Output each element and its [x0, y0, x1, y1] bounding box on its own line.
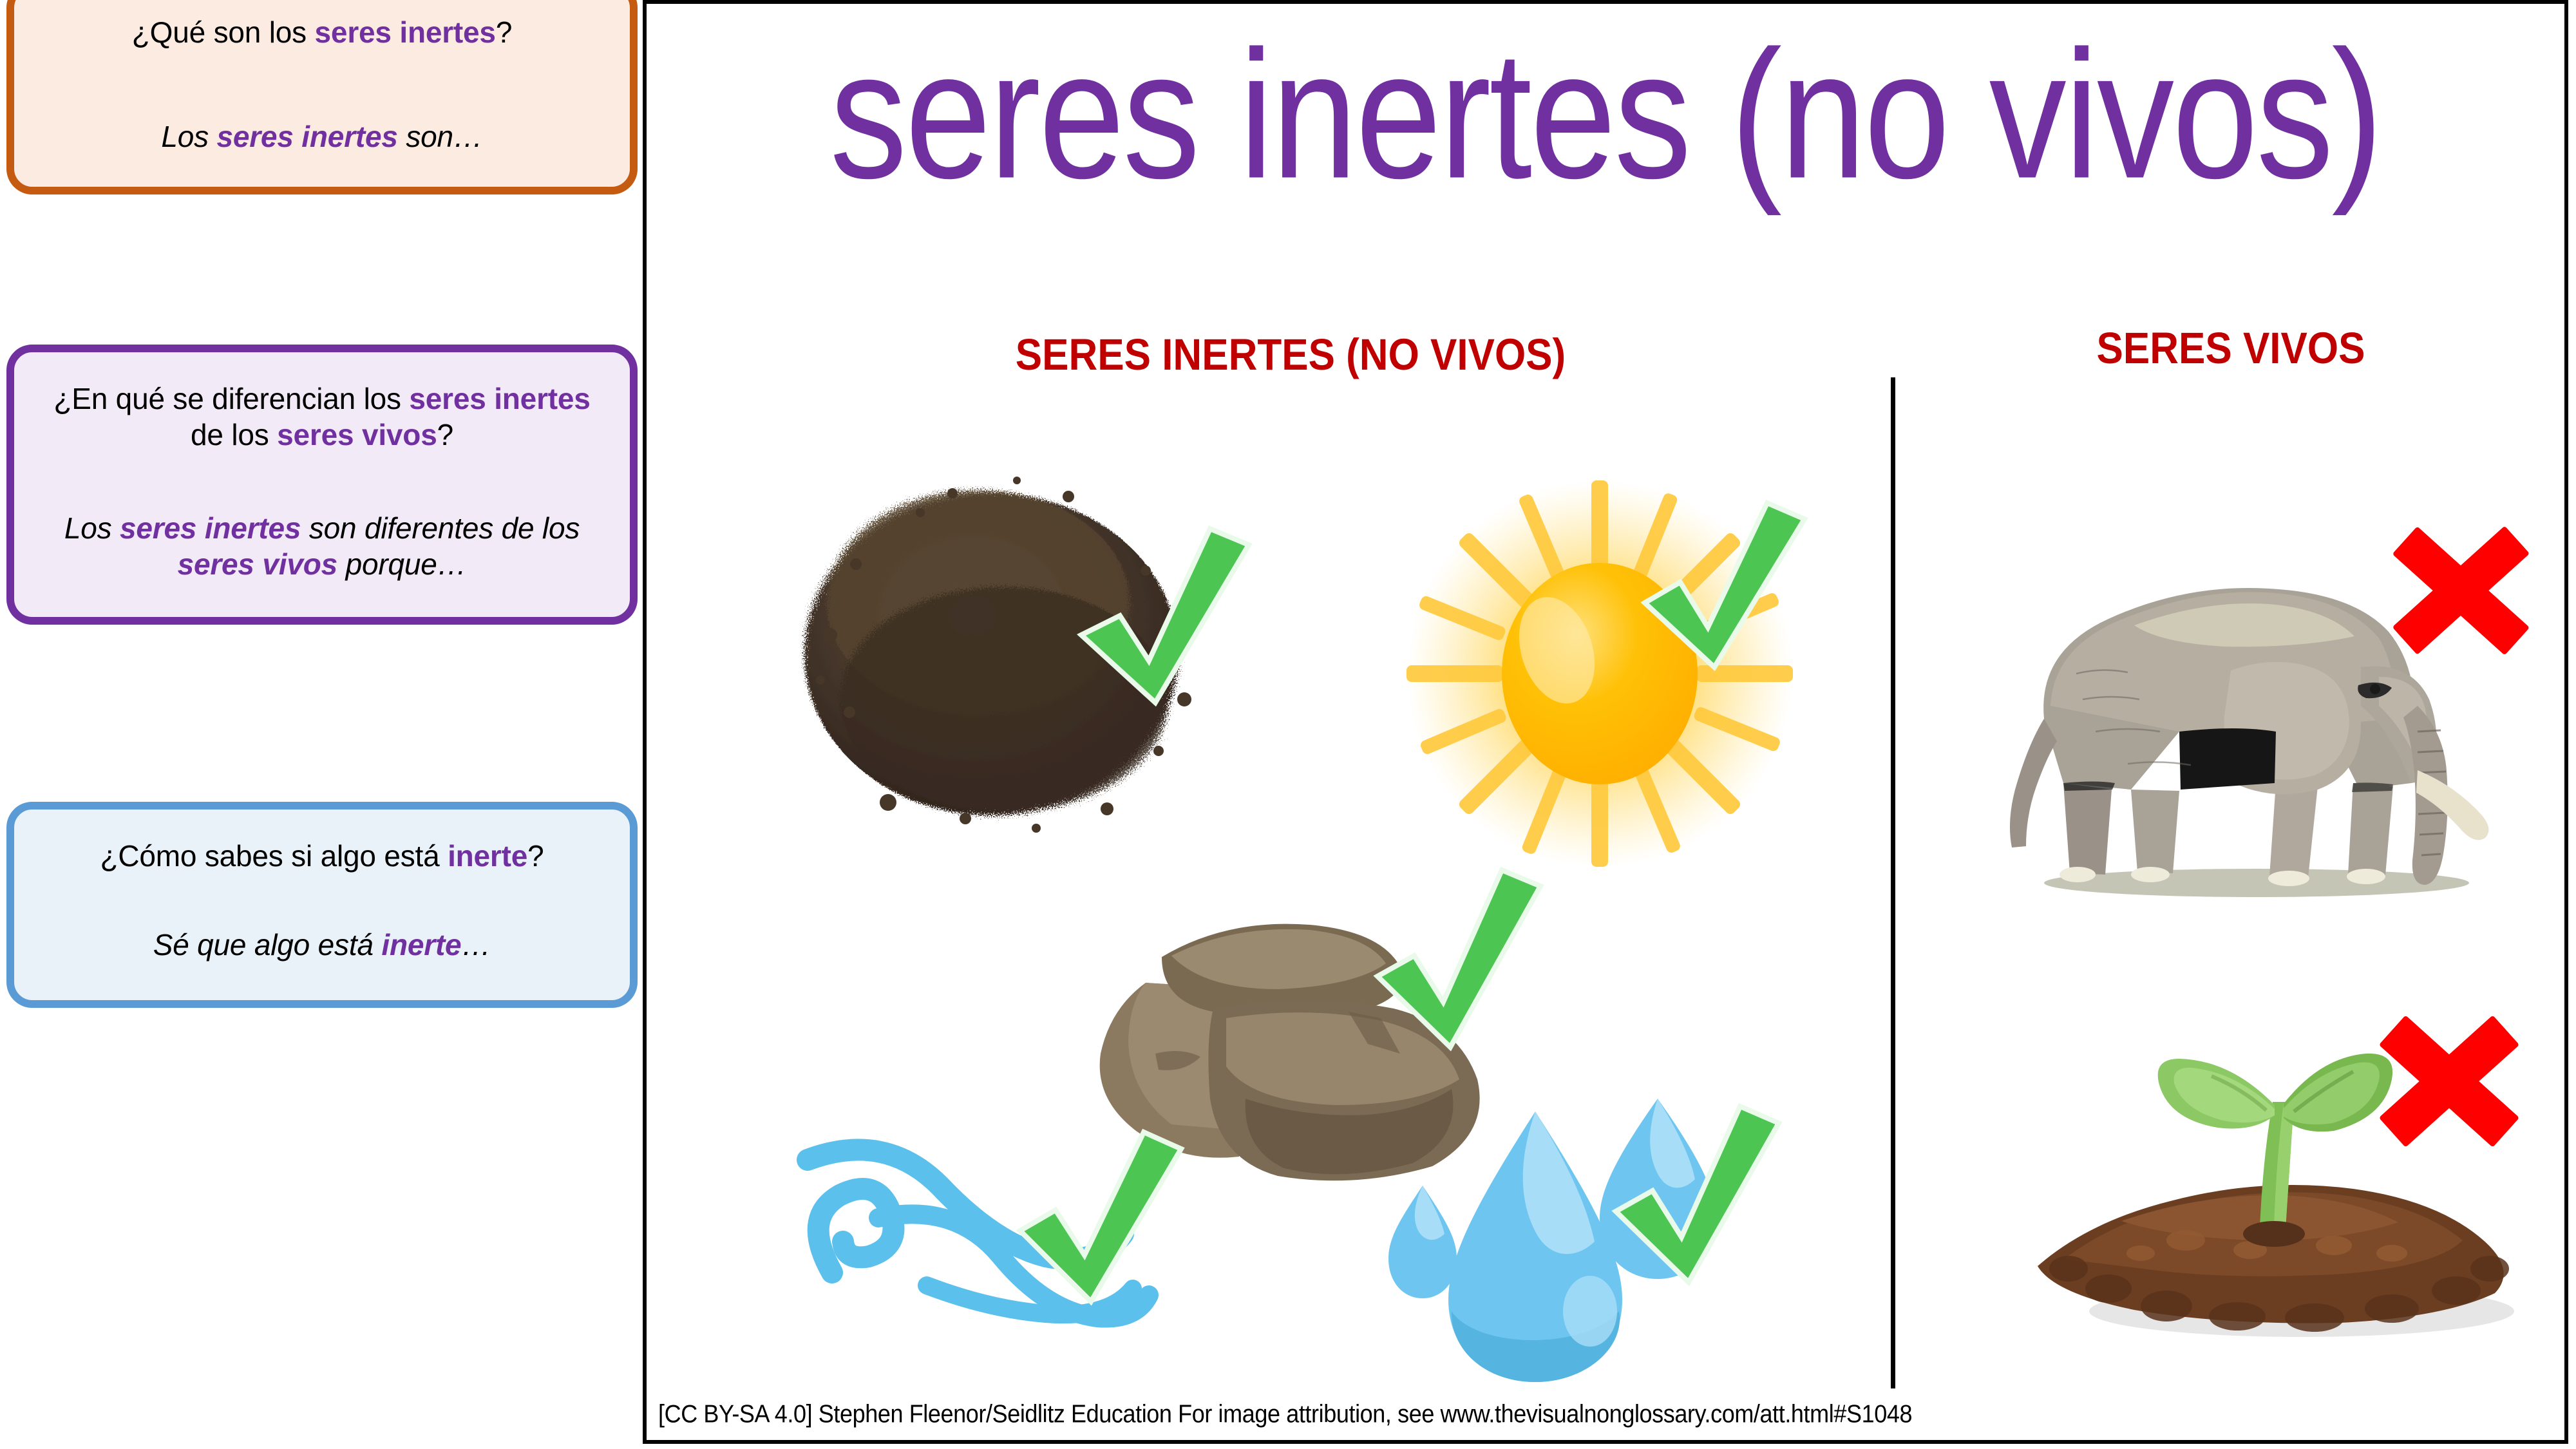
stem-term: seres vivos: [277, 418, 437, 451]
stem-text: son diferentes de los: [301, 511, 580, 545]
stem-term: seres inertes: [120, 511, 301, 545]
stem-term: seres inertes: [216, 120, 397, 153]
image-sprout: [1993, 996, 2559, 1356]
stem-box-compare: ¿En qué se diferencian los seres inertes…: [6, 345, 638, 625]
stem-text: Sé que algo está: [153, 928, 382, 961]
sentence-stem-panel: ¿Qué son los seres inertes? Los seres in…: [0, 0, 643, 1449]
main-slide: seres inertes (no vivos) SERES INERTES (…: [643, 0, 2568, 1444]
stem-answer-3: Sé que algo está inerte…: [40, 927, 604, 963]
column-header-inert: SERES INERTES (NO VIVOS): [724, 330, 1857, 380]
stem-text: de los: [191, 418, 277, 451]
check-icon: [1020, 1132, 1181, 1302]
water-drop-icon: [1374, 1073, 1825, 1382]
stem-text: ¿En qué se diferencian los: [53, 382, 409, 415]
stem-box-evidence: ¿Cómo sabes si algo está inerte? Sé que …: [6, 802, 638, 1008]
sprout-icon: [1993, 996, 2559, 1356]
stem-text: …: [461, 928, 491, 961]
slide-page: ¿Qué son los seres inertes? Los seres in…: [0, 0, 2576, 1449]
soil-icon: [759, 442, 1262, 841]
stem-text: ?: [437, 418, 453, 451]
column-header-alive: SERES VIVOS: [1899, 323, 2562, 374]
stem-question-1: ¿Qué son los seres inertes?: [40, 14, 604, 50]
cross-icon: [2379, 1015, 2519, 1147]
stem-box-definition: ¿Qué son los seres inertes? Los seres in…: [6, 0, 638, 194]
stem-answer-1: Los seres inertes son…: [40, 118, 604, 155]
stem-term: inerte: [381, 928, 461, 961]
stem-term: seres inertes: [409, 382, 590, 415]
wind-icon: [762, 1124, 1213, 1395]
stem-text: Los: [64, 511, 120, 545]
stem-term: seres inertes: [315, 15, 496, 49]
image-elephant: [1967, 513, 2546, 912]
cross-icon: [2392, 526, 2530, 655]
stem-text: son…: [398, 120, 483, 153]
image-soil: [759, 442, 1262, 841]
stem-question-2: ¿En qué se diferencian los seres inertes…: [40, 381, 604, 453]
stem-answer-2: Los seres inertes son diferentes de los …: [40, 510, 604, 582]
stem-text: Los: [161, 120, 216, 153]
stem-question-3: ¿Cómo sabes si algo está inerte?: [40, 838, 604, 874]
elephant-icon: [1967, 513, 2546, 912]
column-divider: [1891, 377, 1895, 1388]
page-title: seres inertes (no vivos): [647, 23, 2564, 205]
stem-term: inerte: [448, 839, 527, 873]
image-wind: [762, 1124, 1213, 1395]
stem-text: ¿Cómo sabes si algo está: [100, 839, 448, 873]
stem-text: ?: [496, 15, 512, 49]
stem-text: porque…: [337, 547, 466, 581]
stem-text: ?: [527, 839, 544, 873]
attribution-text: [CC BY-SA 4.0] Stephen Fleenor/Seidlitz …: [658, 1399, 1912, 1428]
image-water: [1374, 1073, 1825, 1382]
stem-text: ¿Qué son los: [132, 15, 315, 49]
stem-term: seres vivos: [178, 547, 337, 581]
